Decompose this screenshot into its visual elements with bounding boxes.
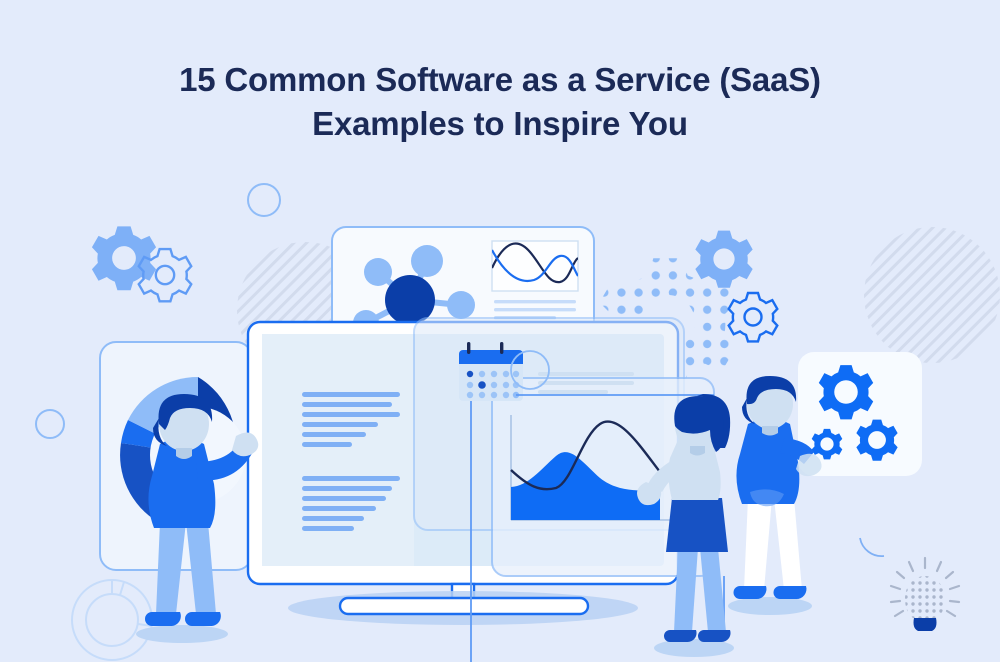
calendar-widget: [459, 342, 523, 401]
document-text-panel: [262, 334, 414, 566]
hatched-circle: [864, 227, 1000, 363]
network-node: [411, 245, 443, 277]
network-node: [447, 291, 475, 319]
illustration-stage: 15 Common Software as a Service (SaaS) E…: [0, 0, 1000, 662]
network-node: [364, 258, 392, 286]
saas-dashboard-illustration: [0, 0, 1000, 662]
monitor-base: [340, 598, 588, 614]
